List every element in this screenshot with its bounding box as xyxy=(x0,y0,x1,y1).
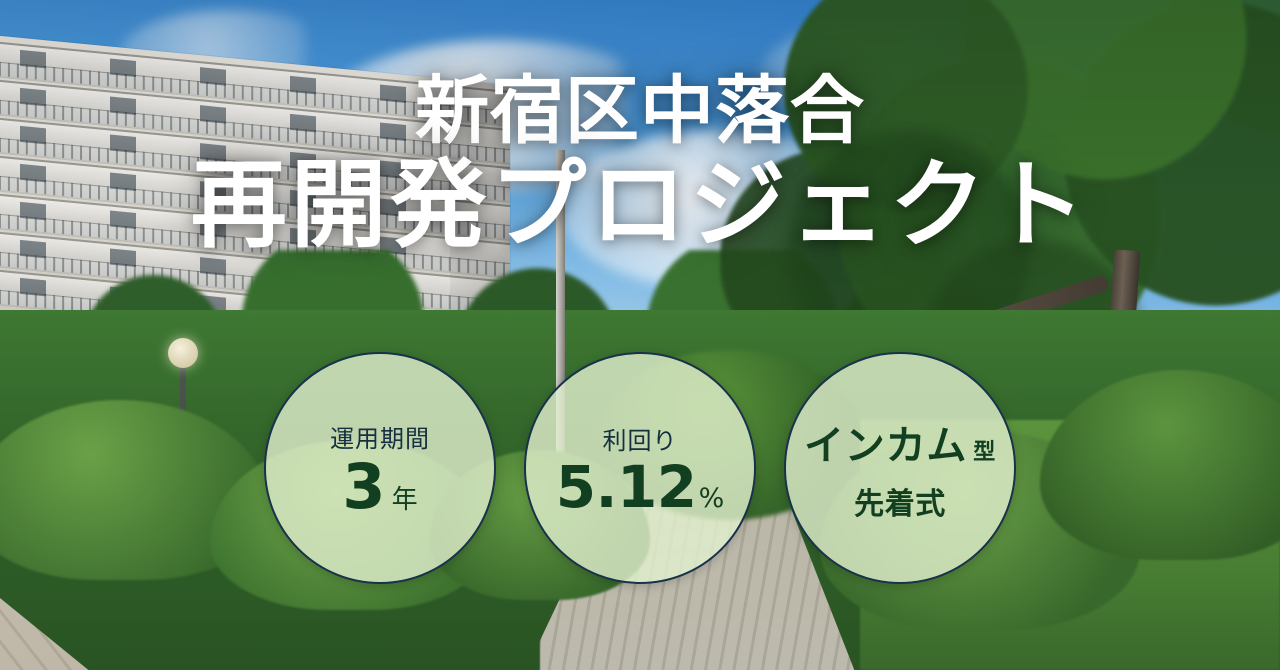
page-title: 新宿区中落合 再開発プロジェクト xyxy=(0,72,1280,259)
badge-value-row: 5.12 % xyxy=(556,458,724,516)
badge-caption: 運用期間 xyxy=(330,419,430,454)
badge-value-row: 3 年 xyxy=(342,456,417,518)
badge-unit: 年 xyxy=(392,479,418,516)
badge-yield: 利回り 5.12 % xyxy=(524,352,756,584)
hero-overlay: 新宿区中落合 再開発プロジェクト 運用期間 3 年 利回り 5.12 % xyxy=(0,0,1280,670)
badge-operation-period: 運用期間 3 年 xyxy=(264,352,496,584)
badge-type-second: 先着式 xyxy=(854,479,946,523)
badge-caption: 利回り xyxy=(603,421,678,456)
badge-type-suffix: 型 xyxy=(973,434,996,466)
badge-fund-type: インカム 型 先着式 xyxy=(784,352,1016,584)
badge-value: 3 xyxy=(342,456,385,518)
headline-line-1: 新宿区中落合 xyxy=(0,72,1280,152)
headline-line-2: 再開発プロジェクト xyxy=(0,152,1280,260)
badge-unit: % xyxy=(699,483,725,514)
badge-type-row: インカム 型 xyxy=(804,413,996,471)
badge-value: 5.12 xyxy=(556,458,697,516)
hero-banner: 新宿区中落合 再開発プロジェクト 運用期間 3 年 利回り 5.12 % xyxy=(0,0,1280,670)
badge-type-main: インカム xyxy=(804,413,967,471)
badge-group: 運用期間 3 年 利回り 5.12 % インカム 型 先着式 xyxy=(0,352,1280,584)
